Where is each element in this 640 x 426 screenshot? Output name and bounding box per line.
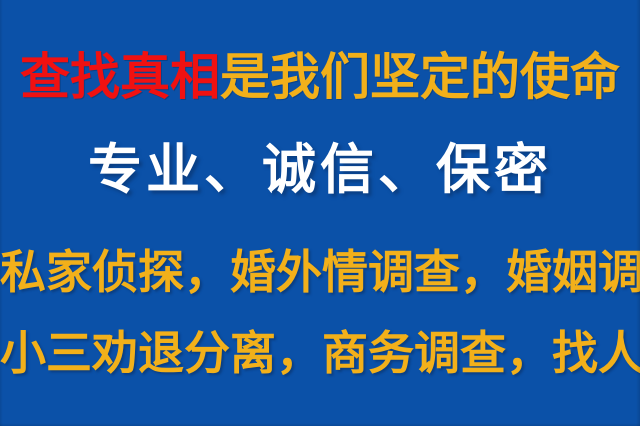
services-list-line-2: 小三劝退分离，商务调查，找人寻人: [0, 330, 640, 376]
headline-slogan: 查找真相是我们坚定的使命: [0, 52, 640, 102]
company-values-line: 专业、诚信、保密: [0, 143, 640, 197]
headline-emphasis-text: 查找真相: [20, 48, 220, 106]
services-list-line-1: 私家侦探，婚外情调查，婚姻调查，: [0, 249, 640, 295]
headline-rest-text: 是我们坚定的使命: [220, 48, 620, 106]
advertisement-banner: 查找真相是我们坚定的使命 专业、诚信、保密 私家侦探，婚外情调查，婚姻调查， 小…: [0, 0, 640, 426]
